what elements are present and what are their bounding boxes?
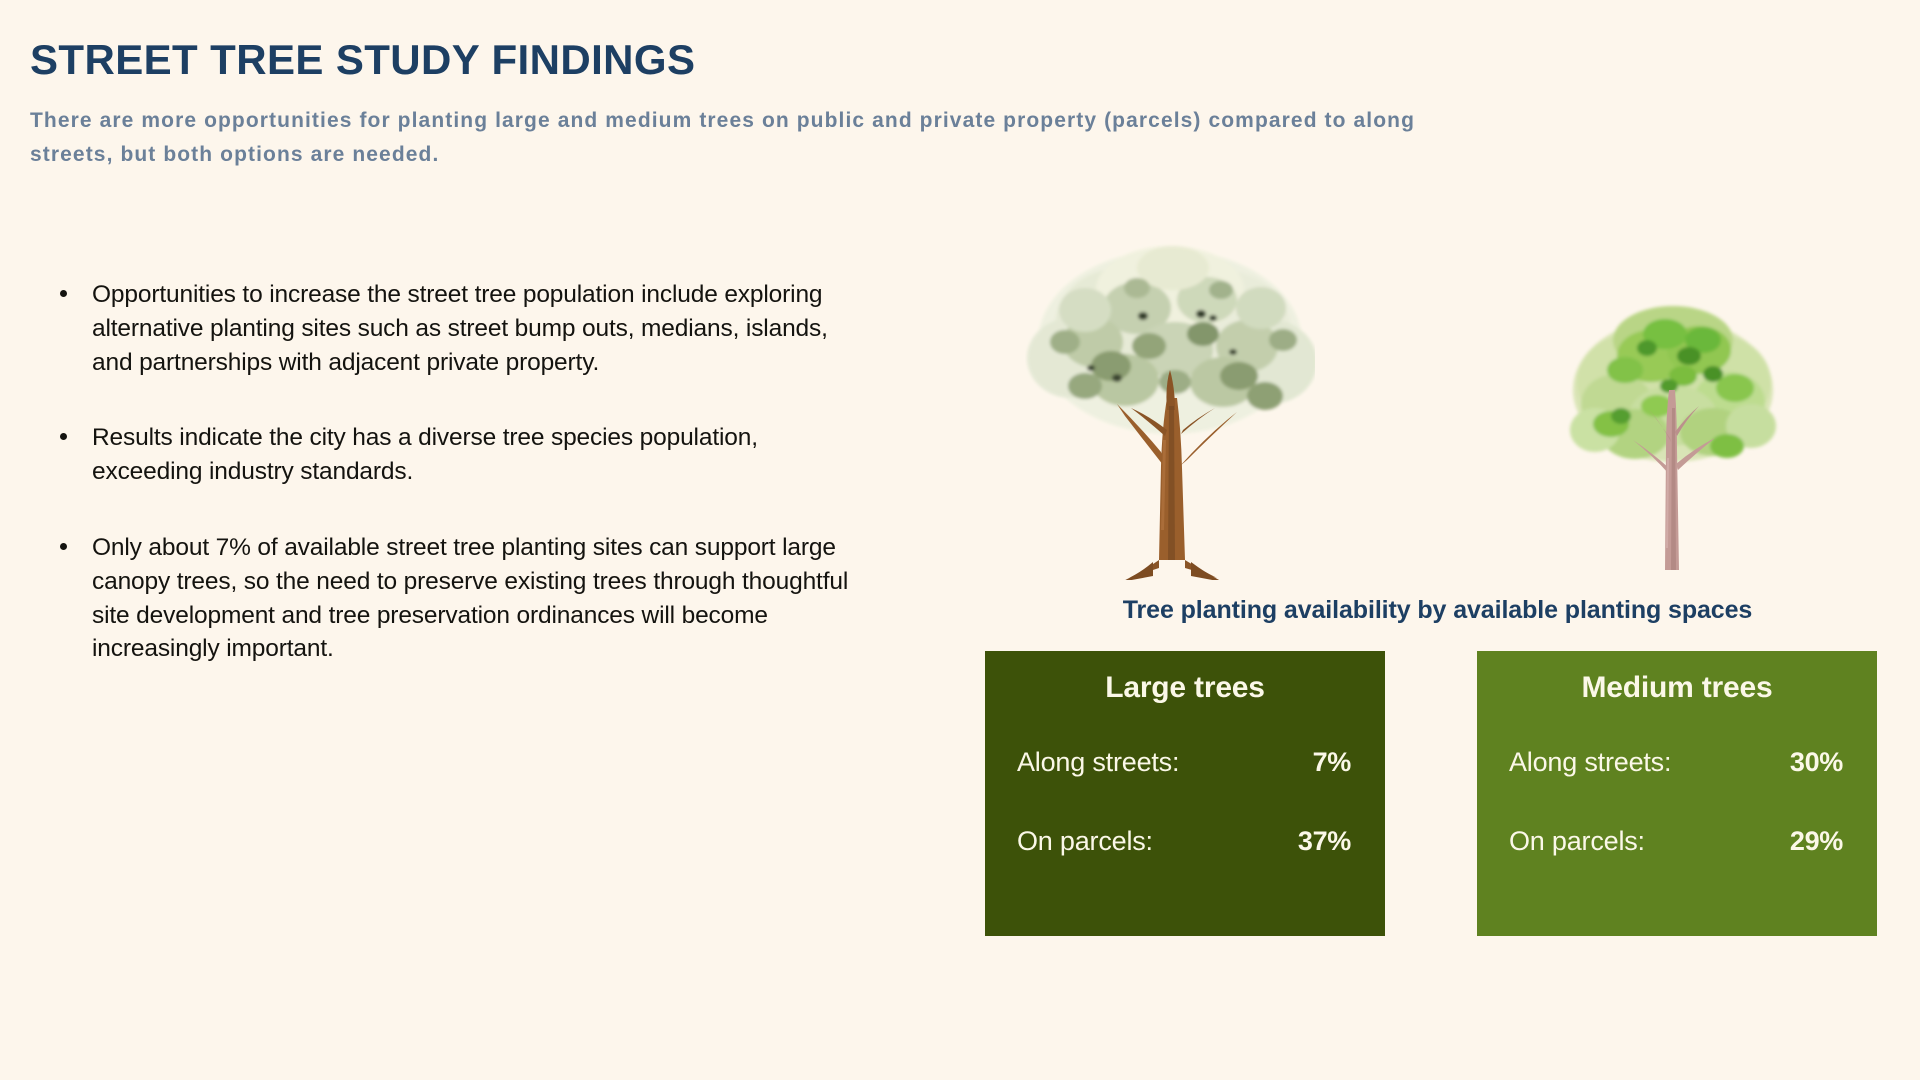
findings-list: Opportunities to increase the street tre… xyxy=(46,278,856,666)
list-item-text: Only about 7% of available street tree p… xyxy=(92,534,848,662)
chart-title: Tree planting availability by available … xyxy=(985,596,1890,625)
stat-value: 30% xyxy=(1790,747,1843,778)
bullet-dot-icon xyxy=(60,290,67,297)
page-subtitle: There are more opportunities for plantin… xyxy=(30,104,1450,172)
stat-label: On parcels: xyxy=(1509,826,1645,857)
page-title: STREET TREE STUDY FINDINGS xyxy=(30,38,1530,82)
list-item: Only about 7% of available street tree p… xyxy=(46,531,856,666)
slide-root: STREET TREE STUDY FINDINGS There are mor… xyxy=(0,0,1920,1080)
visual-panel: Tree planting availability by available … xyxy=(985,230,1890,936)
bullet-dot-icon xyxy=(60,543,67,550)
list-item-text: Opportunities to increase the street tre… xyxy=(92,281,828,376)
stat-row: Along streets: 7% xyxy=(1013,747,1357,778)
large-tree-icon xyxy=(1025,230,1315,580)
stat-cards: Large trees Along streets: 7% On parcels… xyxy=(985,651,1890,936)
stat-card-title: Large trees xyxy=(1013,671,1357,705)
stat-card-large-trees: Large trees Along streets: 7% On parcels… xyxy=(985,651,1385,936)
stat-label: Along streets: xyxy=(1017,747,1179,778)
stat-label: On parcels: xyxy=(1017,826,1153,857)
stat-label: Along streets: xyxy=(1509,747,1671,778)
list-item: Opportunities to increase the street tre… xyxy=(46,278,856,379)
list-item: Results indicate the city has a diverse … xyxy=(46,421,856,489)
stat-row: On parcels: 29% xyxy=(1505,826,1849,857)
header: STREET TREE STUDY FINDINGS There are mor… xyxy=(30,38,1530,172)
medium-tree-icon xyxy=(1565,298,1780,580)
stat-row: Along streets: 30% xyxy=(1505,747,1849,778)
stat-card-medium-trees: Medium trees Along streets: 30% On parce… xyxy=(1477,651,1877,936)
stat-row: On parcels: 37% xyxy=(1013,826,1357,857)
stat-value: 37% xyxy=(1298,826,1351,857)
tree-illustrations xyxy=(985,230,1890,590)
stat-value: 7% xyxy=(1313,747,1351,778)
stat-card-title: Medium trees xyxy=(1505,671,1849,705)
bullet-dot-icon xyxy=(60,433,67,440)
list-item-text: Results indicate the city has a diverse … xyxy=(92,424,758,485)
stat-value: 29% xyxy=(1790,826,1843,857)
